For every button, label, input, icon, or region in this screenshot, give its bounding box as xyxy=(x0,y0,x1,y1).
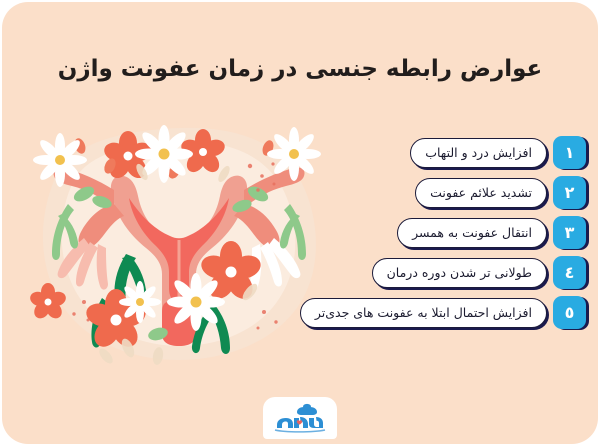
list-item-label: افزایش احتمال ابتلا به عفونت های جدی‌تر xyxy=(300,298,547,328)
list-item-number-badge: ٥ xyxy=(553,296,586,329)
list-item[interactable]: ٣ انتقال عفونت به همسر xyxy=(397,216,586,249)
darmankadeh-logo[interactable] xyxy=(263,397,337,439)
list-item[interactable]: ١ افزایش درد و التهاب xyxy=(410,136,586,169)
list-item-label: انتقال عفونت به همسر xyxy=(397,218,547,248)
consequences-list: ١ افزایش درد و التهاب ٢ تشدید علائم عفون… xyxy=(206,136,586,329)
list-item-number-badge: ٢ xyxy=(553,176,586,209)
page-title: عوارض رابطه جنسی در زمان عفونت واژن xyxy=(0,56,600,82)
list-item-label: تشدید علائم عفونت xyxy=(415,178,547,208)
list-item-label: افزایش درد و التهاب xyxy=(410,138,547,168)
list-item-number-badge: ١ xyxy=(553,136,586,169)
list-item[interactable]: ٢ تشدید علائم عفونت xyxy=(415,176,586,209)
list-item-number-badge: ٤ xyxy=(553,256,586,289)
list-item-label: طولانی تر شدن دوره درمان xyxy=(372,258,547,288)
list-item[interactable]: ٥ افزایش احتمال ابتلا به عفونت های جدی‌ت… xyxy=(300,296,586,329)
list-item[interactable]: ٤ طولانی تر شدن دوره درمان xyxy=(372,256,586,289)
infographic-poster: عوارض رابطه جنسی در زمان عفونت واژن xyxy=(0,0,600,446)
list-item-number-badge: ٣ xyxy=(553,216,586,249)
